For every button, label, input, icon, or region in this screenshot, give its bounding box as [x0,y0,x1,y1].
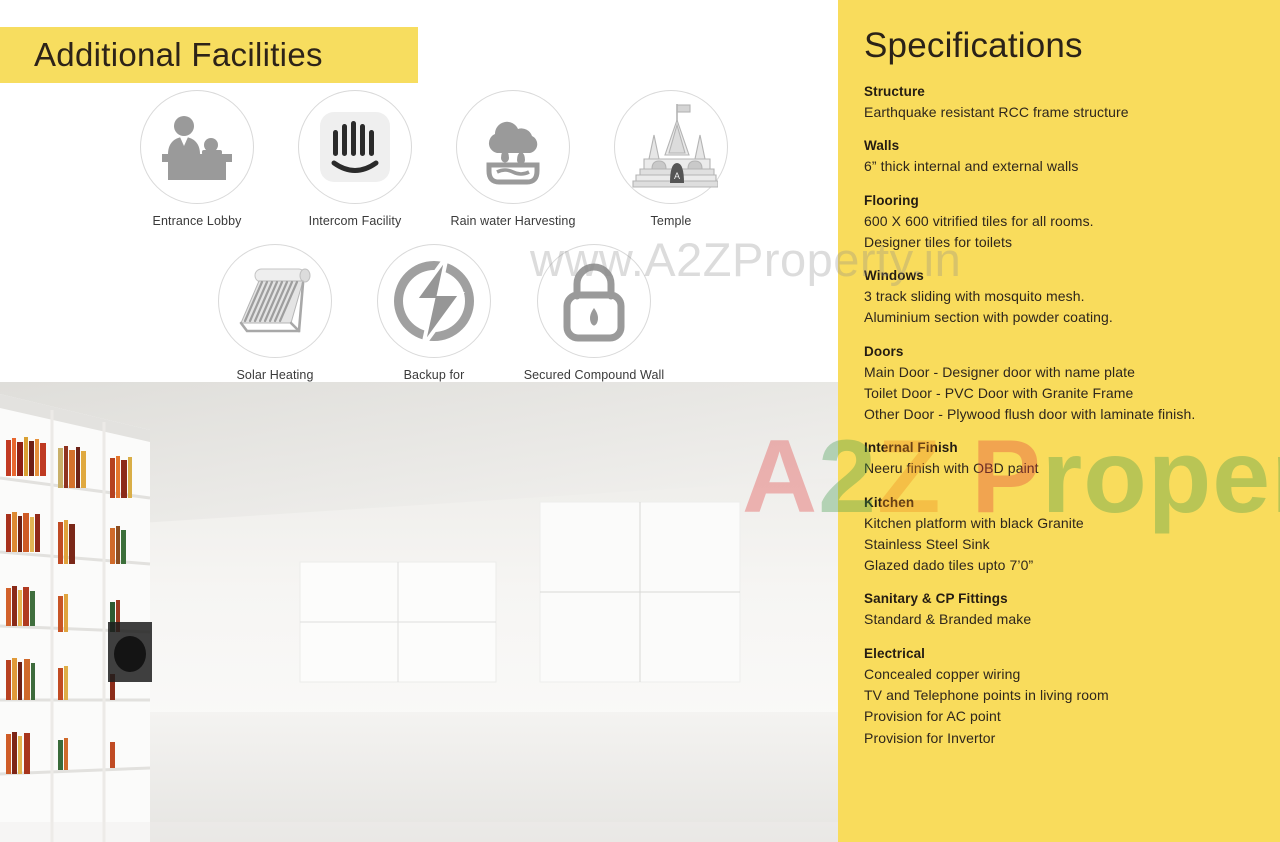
spec-heading: Structure [864,84,1260,99]
spec-heading: Sanitary & CP Fittings [864,591,1260,606]
spec-line: Aluminium section with powder coating. [864,307,1260,328]
spec-group-kitchen: Kitchen Kitchen platform with black Gran… [864,495,1260,577]
spec-heading: Internal Finish [864,440,1260,455]
spec-heading: Electrical [864,646,1260,661]
facility-temple[interactable]: A Temple [592,90,750,230]
facility-label: Rain water Harvesting [450,213,575,230]
facility-label: Intercom Facility [309,213,402,230]
lightning-bolt-icon [389,256,479,346]
spec-line: 600 X 600 vitrified tiles for all rooms. [864,211,1260,232]
facility-label: Temple [651,213,692,230]
facility-rain-water-harvesting[interactable]: Rain water Harvesting [434,90,592,230]
intercom-icon [318,110,392,184]
specifications-title: Specifications [864,26,1260,66]
spec-heading: Kitchen [864,495,1260,510]
spec-line: Standard & Branded make [864,609,1260,630]
facilities-row-2: Solar Heating Backup for Common Area [0,244,838,401]
spec-group-sanitary-cp-fittings: Sanitary & CP Fittings Standard & Brande… [864,591,1260,630]
spec-line: Neeru finish with OBD paint [864,458,1260,479]
facility-solar-heating[interactable]: Solar Heating [196,244,354,401]
spec-group-structure: Structure Earthquake resistant RCC frame… [864,84,1260,123]
solar-heater-icon [229,261,321,341]
spec-line: 6” thick internal and external walls [864,156,1260,177]
facility-icon-circle [456,90,570,204]
spec-heading: Doors [864,344,1260,359]
temple-icon: A [624,101,718,193]
spec-heading: Flooring [864,193,1260,208]
spec-group-electrical: Electrical Concealed copper wiring TV an… [864,646,1260,749]
spec-group-internal-finish: Internal Finish Neeru finish with OBD pa… [864,440,1260,479]
spec-line: Provision for Invertor [864,728,1260,749]
spec-line: TV and Telephone points in living room [864,685,1260,706]
facility-label: Entrance Lobby [153,213,242,230]
svg-text:A: A [674,171,680,181]
spec-line: Main Door - Designer door with name plat… [864,362,1260,383]
facility-icon-circle [377,244,491,358]
facility-secured-compound-wall[interactable]: Secured Compound Wall [514,244,674,401]
facility-icon-circle: A [614,90,728,204]
specifications-panel: Specifications Structure Earthquake resi… [838,0,1280,842]
facilities-grid: Entrance Lobby Int [0,90,838,401]
rain-cloud-basin-icon [473,108,553,186]
facility-icon-circle [140,90,254,204]
spec-line: Other Door - Plywood flush door with lam… [864,404,1260,425]
spec-line: Designer tiles for toilets [864,232,1260,253]
facilities-row-1: Entrance Lobby Int [0,90,838,230]
facility-icon-circle [218,244,332,358]
spec-line: Concealed copper wiring [864,664,1260,685]
spec-line: 3 track sliding with mosquito mesh. [864,286,1260,307]
facility-backup-common-area[interactable]: Backup for Common Area [354,244,514,401]
additional-facilities-banner: Additional Facilities [0,27,418,83]
facility-icon-circle [298,90,412,204]
facility-intercom[interactable]: Intercom Facility [276,90,434,230]
spec-line: Earthquake resistant RCC frame structure [864,102,1260,123]
living-room-illustration [0,382,838,842]
interior-living-room-photo [0,382,838,842]
facilities-column: Additional Facilities [0,0,838,842]
spec-line: Glazed dado tiles upto 7’0” [864,555,1260,576]
padlock-icon [557,260,631,342]
spec-heading: Windows [864,268,1260,283]
spec-line: Toilet Door - PVC Door with Granite Fram… [864,383,1260,404]
spec-line: Provision for AC point [864,706,1260,727]
facility-icon-circle [537,244,651,358]
facility-entrance-lobby[interactable]: Entrance Lobby [118,90,276,230]
spec-group-doors: Doors Main Door - Designer door with nam… [864,344,1260,426]
reception-desk-icon [154,112,240,182]
page-title: Additional Facilities [34,36,323,74]
brochure-page: Additional Facilities [0,0,1280,842]
spec-group-walls: Walls 6” thick internal and external wal… [864,138,1260,177]
spec-line: Stainless Steel Sink [864,534,1260,555]
spec-group-windows: Windows 3 track sliding with mosquito me… [864,268,1260,329]
spec-heading: Walls [864,138,1260,153]
spec-line: Kitchen platform with black Granite [864,513,1260,534]
spec-group-flooring: Flooring 600 X 600 vitrified tiles for a… [864,193,1260,254]
